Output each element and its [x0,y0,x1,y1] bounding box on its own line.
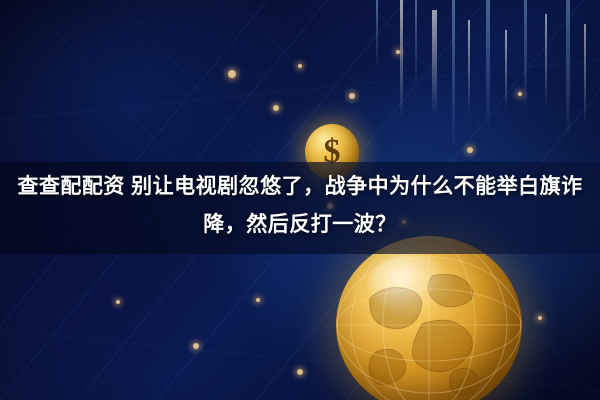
golden-globe [336,236,522,400]
light-streak [468,20,470,115]
particle-dot [116,300,120,304]
particle-dot [193,343,199,349]
light-streak [400,0,403,120]
brand-name: 查查配配资 [17,175,125,198]
particle-dot [298,64,302,68]
particle-dot [396,50,400,54]
light-streak [545,14,547,106]
light-streak [432,10,437,115]
headline-line-1: 别让电视剧忽悠了，战争中为什么不 [131,175,475,198]
light-streak [524,0,527,110]
particle-dot [297,369,303,375]
light-streak [452,0,455,150]
particle-dot [273,105,279,111]
light-streak [584,24,586,124]
light-streak [486,0,490,130]
particle-dot [518,92,522,96]
promotional-banner: $ 查查配配资 别让电视剧忽悠了，战争中为什么不能举白旗诈降，然后反打一波？ [0,0,600,400]
particle-dot [256,298,260,302]
particle-dot [228,70,236,78]
light-streak [376,0,378,70]
light-streak [566,0,570,140]
particle-dot [349,93,355,99]
headline-text: 查查配配资 别让电视剧忽悠了，战争中为什么不能举白旗诈降，然后反打一波？ [0,168,600,244]
light-streak [505,30,507,110]
light-streak [415,0,417,86]
particle-dot [538,316,542,320]
particle-dot [467,147,473,153]
